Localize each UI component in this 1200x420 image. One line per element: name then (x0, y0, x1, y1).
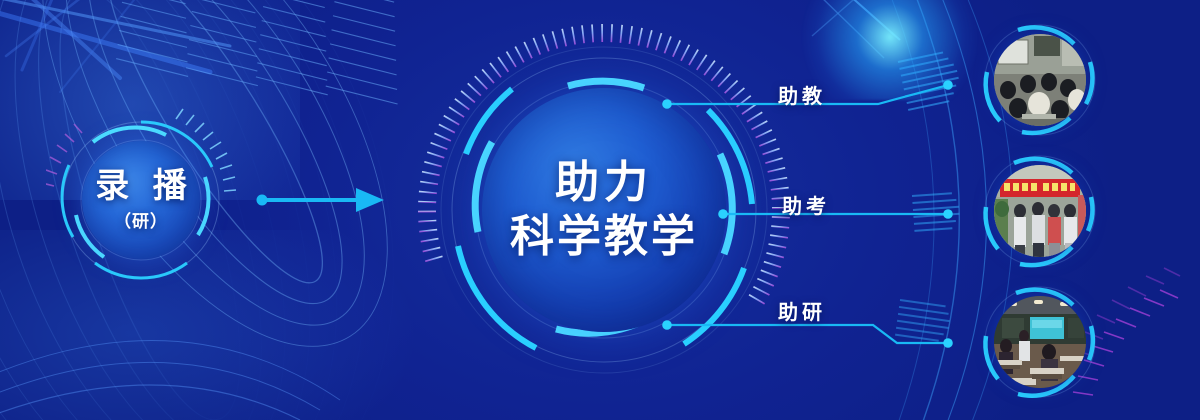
connector-dot-3-start (662, 320, 672, 330)
branch-label-1: 助教 (778, 80, 826, 109)
photo-exam-support-content (994, 165, 1086, 257)
connector-dot-2-end (943, 209, 953, 219)
branch-label-3: 助研 (778, 296, 826, 325)
photo-exam-support[interactable] (994, 165, 1086, 257)
photo-lecture-hall[interactable] (994, 296, 1086, 388)
connector-dot-3-end (943, 338, 953, 348)
connector-dot-1-end (943, 80, 953, 90)
connector-dot-1-start (662, 99, 672, 109)
banner-root: 录 播 （研） (0, 0, 1200, 420)
branch-label-2: 助考 (782, 190, 830, 219)
connector-line-3 (669, 325, 948, 343)
photo-classroom-content (994, 34, 1086, 126)
photo-lecture-hall-content (994, 296, 1086, 388)
photo-classroom[interactable] (994, 34, 1086, 126)
connector-dot-2-start (718, 209, 728, 219)
